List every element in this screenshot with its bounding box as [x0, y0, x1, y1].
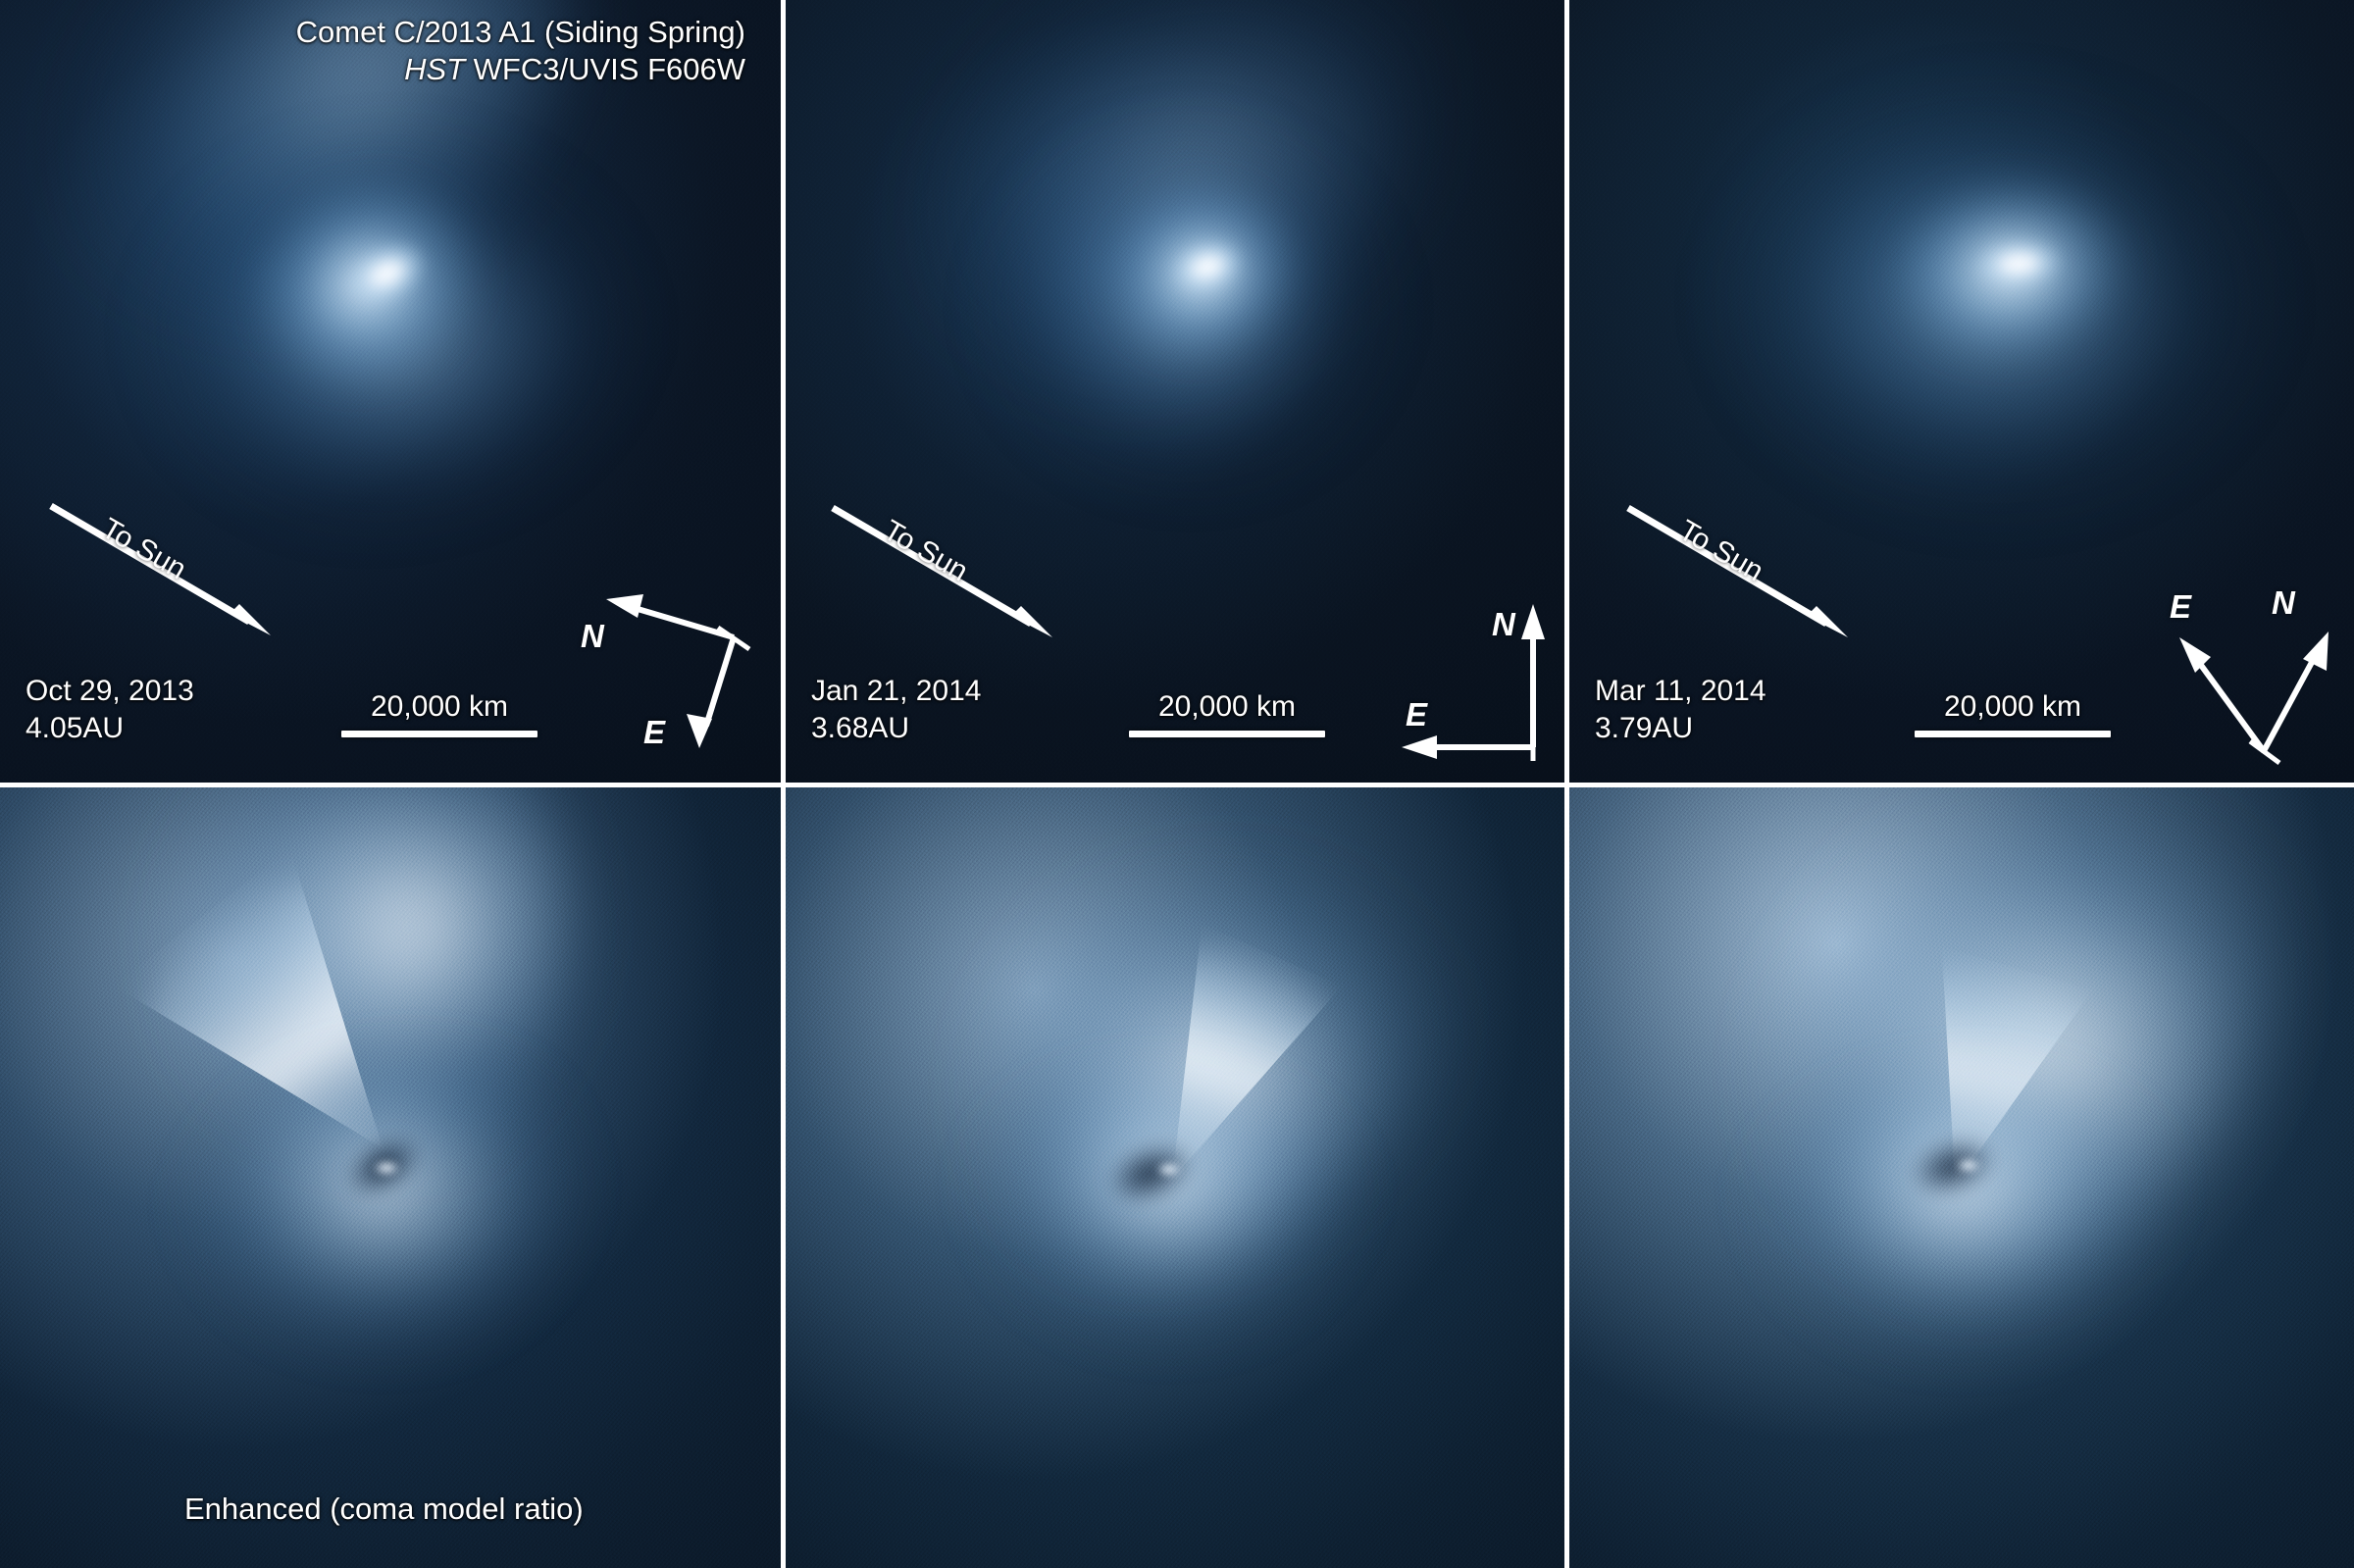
- instrument-italic: HST: [404, 52, 465, 86]
- scale-bar-group: 20,000 km: [1915, 690, 2111, 737]
- observation-date: Mar 11, 2014: [1595, 673, 1766, 710]
- instrument-rest: WFC3/UVIS F606W: [465, 52, 745, 86]
- panel-raw-jan-2014: To Sun Jan 21, 2014 3.68AU 20,000 km N E: [786, 0, 1564, 783]
- panel-raw-mar-2014: To Sun Mar 11, 2014 3.79AU 20,000 km E N: [1569, 0, 2354, 783]
- compass-north-label: N: [1492, 606, 1515, 643]
- panel-enhanced-jan-2014: [786, 787, 1564, 1568]
- panel-enhanced-oct-2013: Enhanced (coma model ratio): [0, 787, 781, 1568]
- enhancement-noise: [786, 787, 1564, 1568]
- observation-date: Jan 21, 2014: [811, 673, 981, 710]
- scale-bar-group: 20,000 km: [1129, 690, 1325, 737]
- observation-date-block: Jan 21, 2014 3.68AU: [811, 673, 981, 747]
- scale-bar-line: [1129, 731, 1325, 737]
- compass-north-label: N: [581, 618, 604, 655]
- compass-rose: E N: [2154, 596, 2350, 773]
- compass-east-label: E: [2170, 588, 2191, 626]
- scale-bar-label: 20,000 km: [1915, 690, 2111, 724]
- observation-date: Oct 29, 2013: [26, 673, 194, 710]
- enhanced-caption: Enhanced (coma model ratio): [184, 1492, 584, 1527]
- scale-bar-group: 20,000 km: [341, 690, 537, 737]
- enhancement-noise: [1569, 787, 2354, 1568]
- scale-bar-label: 20,000 km: [1129, 690, 1325, 724]
- observation-date-block: Oct 29, 2013 4.05AU: [26, 673, 194, 747]
- panel-enhanced-mar-2014: [1569, 787, 2354, 1568]
- heliocentric-distance: 4.05AU: [26, 710, 194, 747]
- heliocentric-distance: 3.79AU: [1595, 710, 1766, 747]
- scale-bar-line: [341, 731, 537, 737]
- compass-east-label: E: [643, 714, 665, 751]
- compass-north-label: N: [2272, 584, 2295, 622]
- compass-rose: N E: [588, 588, 775, 765]
- compass-rose: N E: [1384, 598, 1564, 765]
- comet-figure: Comet C/2013 A1 (Siding Spring) HST WFC3…: [0, 0, 2354, 1568]
- compass-east-label: E: [1406, 696, 1427, 733]
- figure-title: Comet C/2013 A1 (Siding Spring) HST WFC3…: [296, 14, 745, 89]
- enhancement-noise: [0, 787, 781, 1568]
- title-object-name: Comet C/2013 A1 (Siding Spring): [296, 14, 745, 51]
- observation-date-block: Mar 11, 2014 3.79AU: [1595, 673, 1766, 747]
- panel-raw-oct-2013: Comet C/2013 A1 (Siding Spring) HST WFC3…: [0, 0, 781, 783]
- scale-bar-line: [1915, 731, 2111, 737]
- scale-bar-label: 20,000 km: [341, 690, 537, 724]
- heliocentric-distance: 3.68AU: [811, 710, 981, 747]
- title-instrument: HST WFC3/UVIS F606W: [296, 51, 745, 88]
